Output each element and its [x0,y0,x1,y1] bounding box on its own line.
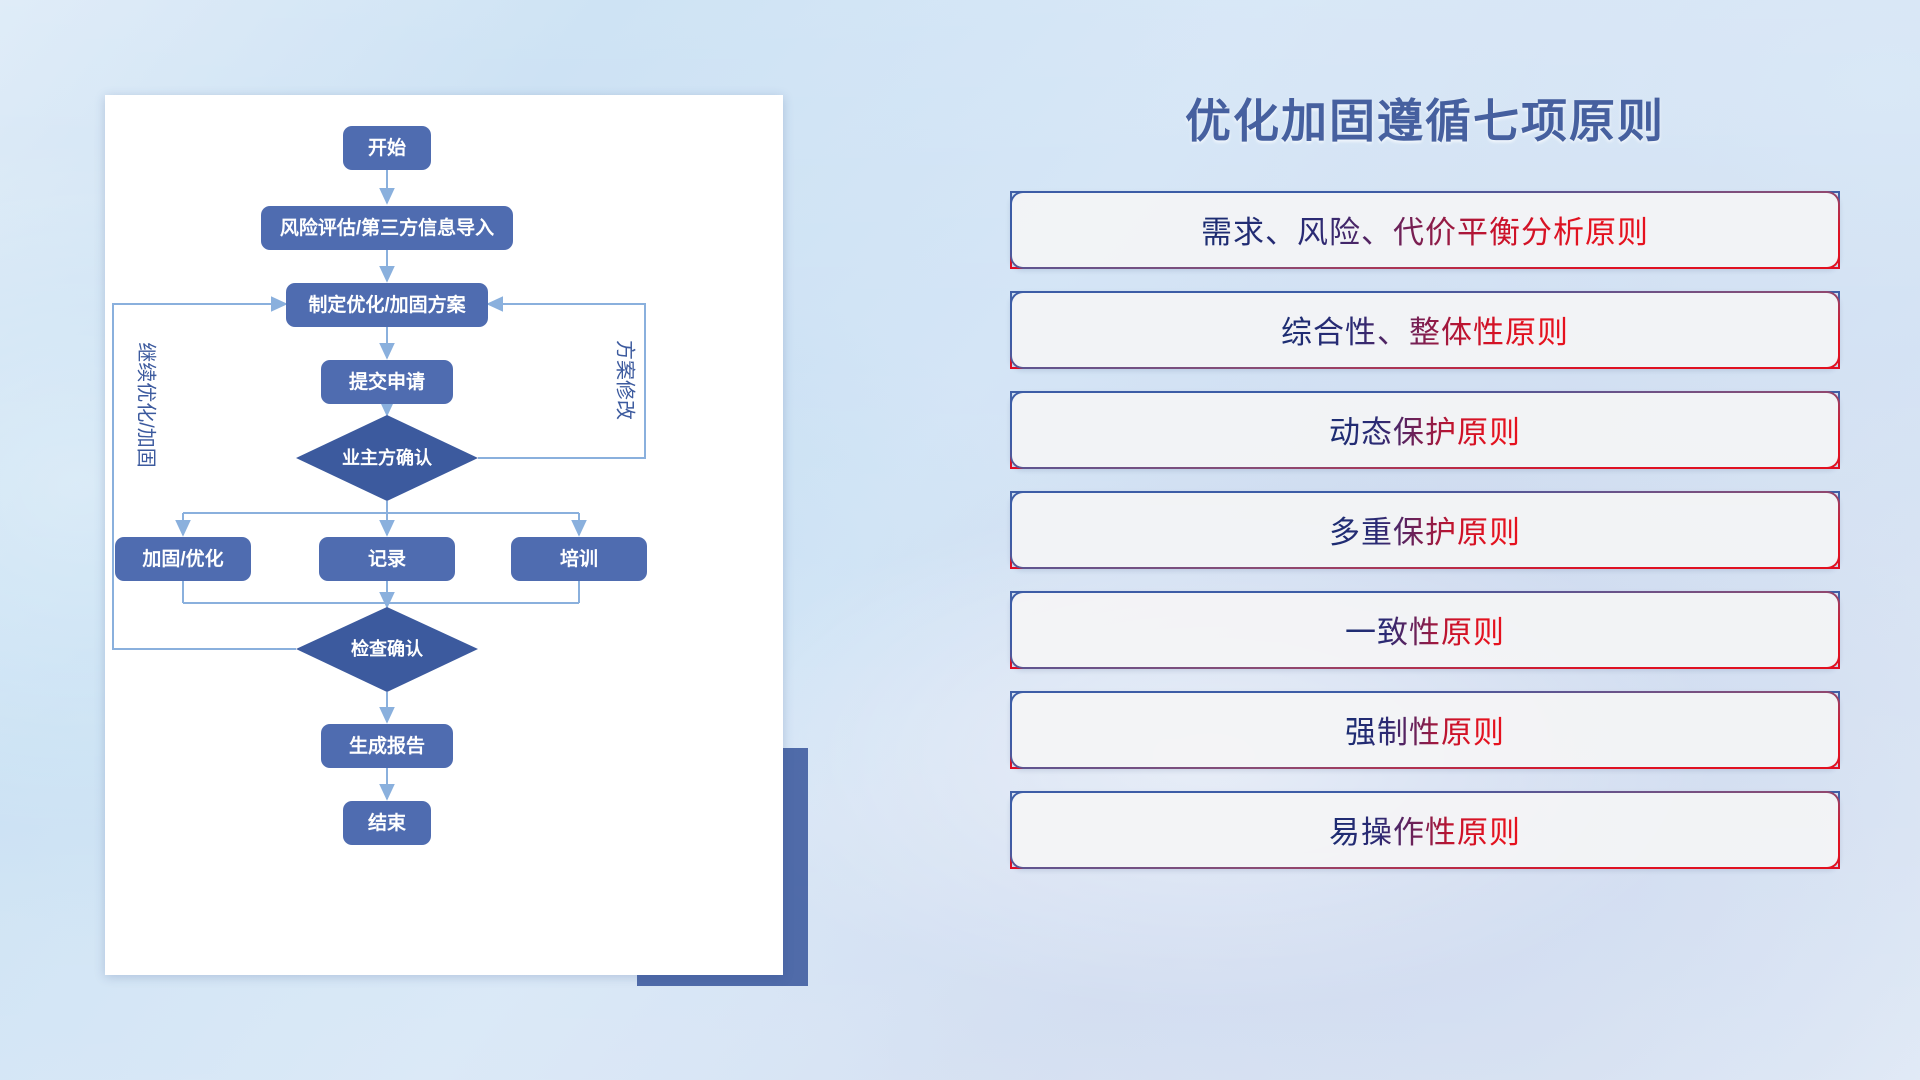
flow-node-report[interactable]: 生成报告 [321,724,453,768]
svg-text:加固/优化: 加固/优化 [141,547,223,570]
svg-text:检查确认: 检查确认 [351,638,424,659]
principle-item-6[interactable]: 强制性原则 [1010,691,1840,769]
page-title: 优化加固遵循七项原则 [1010,96,1840,147]
svg-text:结束: 结束 [368,811,407,834]
principle-item-2[interactable]: 综合性、整体性原则 [1010,291,1840,369]
flow-node-risk-assessment[interactable]: 风险评估/第三方信息导入 [261,206,513,250]
flow-node-reinforce[interactable]: 加固/优化 [115,537,251,581]
svg-text:记录: 记录 [368,548,406,570]
svg-text:方案修改: 方案修改 [614,340,637,420]
flow-node-end[interactable]: 结束 [343,801,431,845]
principle-label-2: 综合性、整体性原则 [1281,307,1569,352]
principle-item-7[interactable]: 易操作性原则 [1010,791,1840,869]
flow-node-plan[interactable]: 制定优化/加固方案 [286,283,488,327]
svg-text:提交申请: 提交申请 [349,370,425,393]
flowchart-diagram: 开始 风险评估/第三方信息导入 制定优化/加固方案 提交申请 业主方确认 加固/… [105,95,783,975]
flow-node-owner-confirm[interactable]: 业主方确认 [296,415,478,501]
principle-label-4: 多重保护原则 [1329,507,1521,552]
flow-node-check-confirm[interactable]: 检查确认 [296,607,478,692]
principles-list: 需求、风险、代价平衡分析原则 综合性、整体性原则 动态保护原则 多重保护原则 一… [1010,191,1840,869]
principles-panel: 优化加固遵循七项原则 需求、风险、代价平衡分析原则 综合性、整体性原则 动态保护… [1010,96,1840,996]
flow-node-training[interactable]: 培训 [511,537,647,581]
svg-text:生成报告: 生成报告 [349,734,425,757]
principle-label-1: 需求、风险、代价平衡分析原则 [1201,207,1649,252]
principle-label-7: 易操作性原则 [1329,807,1521,852]
principle-item-1[interactable]: 需求、风险、代价平衡分析原则 [1010,191,1840,269]
flow-node-record[interactable]: 记录 [319,537,455,581]
principle-label-3: 动态保护原则 [1329,407,1521,452]
svg-text:风险评估/第三方信息导入: 风险评估/第三方信息导入 [280,216,494,239]
flowchart-card: 开始 风险评估/第三方信息导入 制定优化/加固方案 提交申请 业主方确认 加固/… [105,95,783,975]
principle-item-5[interactable]: 一致性原则 [1010,591,1840,669]
svg-text:开始: 开始 [368,136,406,159]
svg-text:继续优化/加固: 继续优化/加固 [135,342,158,468]
flow-edge-label-continue-optimize: 继续优化/加固 [135,342,158,468]
svg-text:培训: 培训 [560,547,598,570]
principle-label-5: 一致性原则 [1345,607,1505,652]
flow-node-start[interactable]: 开始 [343,126,431,170]
principle-item-3[interactable]: 动态保护原则 [1010,391,1840,469]
flow-edge-label-plan-revision: 方案修改 [614,340,637,420]
principle-item-4[interactable]: 多重保护原则 [1010,491,1840,569]
flow-node-submit[interactable]: 提交申请 [321,360,453,404]
principle-label-6: 强制性原则 [1345,707,1505,752]
svg-text:制定优化/加固方案: 制定优化/加固方案 [308,293,466,316]
svg-text:业主方确认: 业主方确认 [342,447,433,468]
